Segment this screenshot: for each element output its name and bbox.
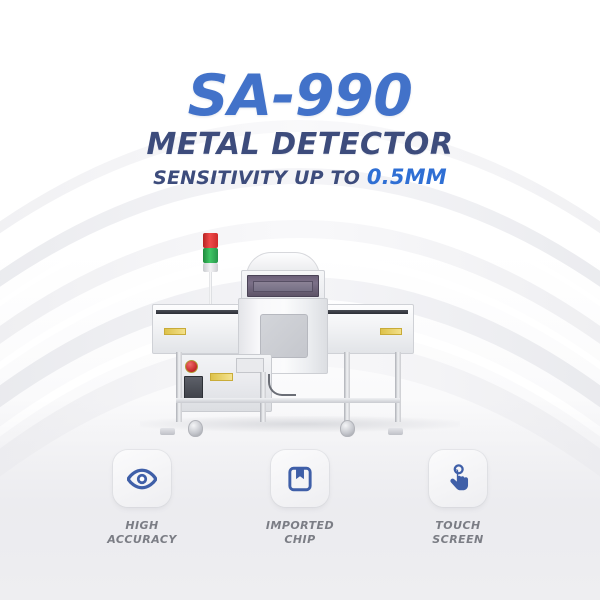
stand-leg — [176, 352, 182, 422]
feature-item-high-accuracy: HIGH ACCURACY — [89, 450, 195, 570]
detector-access-panel — [260, 314, 308, 358]
sensitivity-value: 0.5MM — [367, 165, 447, 189]
control-display-screen — [247, 275, 319, 297]
feature-list: HIGH ACCURACY IMPORTED CHIP TOUCH SCREEN — [0, 450, 600, 570]
eye-icon — [127, 464, 157, 494]
sensitivity-prefix: SENSITIVITY UP TO — [153, 167, 367, 189]
signal-lamp-green-icon — [203, 248, 218, 263]
warning-label-right — [380, 328, 402, 335]
warning-label-left — [164, 328, 186, 335]
metal-detector-machine — [148, 226, 454, 448]
conveyor-belt-left — [156, 310, 240, 314]
leveling-foot — [160, 428, 175, 435]
caster-wheel — [340, 420, 355, 437]
feature-icon-tile — [429, 450, 487, 507]
feature-label: IMPORTED CHIP — [266, 519, 334, 547]
caster-wheel — [188, 420, 203, 437]
stand-leg — [395, 352, 401, 422]
product-poster: SA-990 METAL DETECTOR SENSITIVITY UP TO … — [0, 0, 600, 600]
signal-tower-base — [203, 263, 218, 272]
headline-block: SA-990 METAL DETECTOR SENSITIVITY UP TO … — [0, 66, 600, 190]
conveyor-belt-right — [324, 310, 408, 314]
touch-hand-icon — [444, 464, 472, 494]
cabinet-name-plate — [236, 358, 264, 373]
product-type-subtitle: METAL DETECTOR — [0, 128, 600, 161]
sensitivity-line: SENSITIVITY UP TO 0.5MM — [0, 166, 600, 190]
feature-item-touch-screen: TOUCH SCREEN — [405, 450, 511, 570]
leveling-foot — [388, 428, 403, 435]
feature-icon-tile — [271, 450, 329, 507]
feature-label: HIGH ACCURACY — [107, 519, 177, 547]
chip-card-icon — [286, 465, 314, 493]
page-title: SA-990 — [0, 66, 600, 126]
power-cable — [268, 374, 296, 396]
stand-leg — [344, 352, 350, 422]
feature-item-imported-chip: IMPORTED CHIP — [247, 450, 353, 570]
signal-lamp-red-icon — [203, 233, 218, 248]
cabinet-warning-label — [210, 373, 233, 381]
feature-icon-tile — [113, 450, 171, 507]
product-image — [0, 218, 600, 450]
stand-leg — [260, 372, 266, 422]
feature-label: TOUCH SCREEN — [432, 519, 483, 547]
stand-cross-rail — [176, 398, 400, 403]
emergency-stop-button-icon — [185, 360, 198, 373]
